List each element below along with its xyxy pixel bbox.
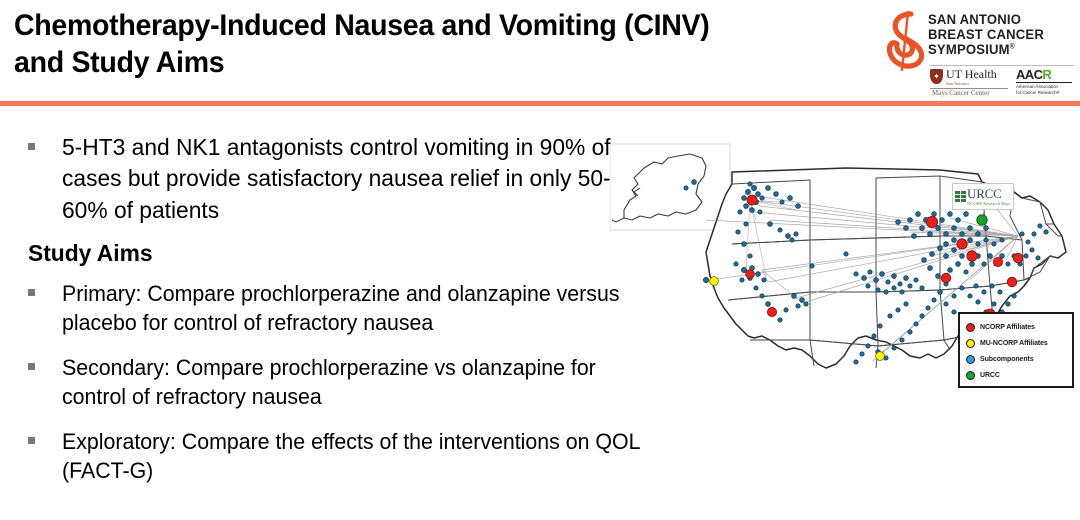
aacr-sub-line-2: for Cancer Research® (1016, 90, 1074, 95)
urcc-subtitle: NCORP Research Base (967, 200, 1010, 207)
urcc-text-block: URCC NCORP Research Base (967, 187, 1010, 207)
logo-line-1: SAN ANTONIO (928, 12, 1070, 27)
logo-line-3-text: SYMPOSIUM (928, 42, 1010, 57)
aacr-wordmark-green: R (1042, 67, 1051, 82)
legend-item-mu-ncorp: MU-NCORP Affiliates (966, 335, 1068, 351)
aim-text-secondary: Secondary: Compare prochlorperazine vs o… (62, 353, 650, 411)
page-title: Chemotherapy-Induced Nausea and Vomiting… (14, 8, 736, 81)
ut-health-name: UT Health (946, 68, 1010, 81)
ut-health-logo: ✦ UT Health San Antonio Mays Cancer Cent… (930, 68, 1010, 98)
legend-item-ncorp: NCORP Affiliates (966, 319, 1068, 335)
ut-shield-star-icon: ✦ (930, 69, 943, 84)
square-bullet-icon (28, 289, 35, 296)
ut-health-location: San Antonio (946, 81, 1010, 87)
urcc-grid-icon (955, 191, 966, 202)
sabcs-ribbon-mark-icon (884, 10, 926, 72)
logo-separator-rule (930, 65, 1074, 66)
legend-label-ncorp: NCORP Affiliates (980, 324, 1035, 331)
sabcs-wordmark: SAN ANTONIO BREAST CANCER SYMPOSIUM® (928, 12, 1074, 57)
list-item: Exploratory: Compare the effects of the … (28, 427, 668, 485)
slide-canvas: Chemotherapy-Induced Nausea and Vomiting… (0, 0, 1080, 520)
square-bullet-icon (28, 437, 35, 444)
ut-health-center: Mays Cancer Center (932, 89, 1010, 98)
list-item: Primary: Compare prochlorperazine and ol… (28, 279, 668, 337)
registered-mark: ® (1010, 44, 1015, 51)
legend-dot-yellow-icon (966, 339, 975, 348)
grid-cell (955, 191, 960, 194)
aacr-wordmark-black: AAC (1016, 67, 1042, 82)
map-legend: NCORP Affiliates MU-NCORP Affiliates Sub… (958, 312, 1074, 388)
aacr-rule (1016, 82, 1072, 83)
grid-cell (961, 191, 966, 194)
grid-cell (955, 195, 960, 198)
study-aims-list: Primary: Compare prochlorperazine and ol… (28, 279, 668, 485)
legend-label-urcc: URCC (980, 372, 1000, 379)
title-block: Chemotherapy-Induced Nausea and Vomiting… (14, 8, 774, 81)
slide-body: 5-HT3 and NK1 antagonists control vomiti… (28, 132, 668, 501)
logo-partner-row: ✦ UT Health San Antonio Mays Cancer Cent… (930, 68, 1076, 102)
aacr-logo: AACR American Association for Cancer Res… (1016, 68, 1074, 96)
shield-star-glyph: ✦ (933, 73, 940, 81)
legend-item-urcc: URCC (966, 367, 1068, 383)
square-bullet-icon (28, 143, 35, 150)
logo-line-2: BREAST CANCER (928, 27, 1070, 42)
grid-cell (955, 199, 960, 202)
aacr-sub-line-1: American Association (1016, 84, 1074, 89)
legend-dot-blue-icon (966, 355, 975, 364)
study-aims-heading: Study Aims (28, 240, 649, 267)
aim-text-primary: Primary: Compare prochlorperazine and ol… (62, 279, 650, 337)
sabcs-logo: SAN ANTONIO BREAST CANCER SYMPOSIUM® ✦ U… (884, 6, 1074, 98)
legend-item-subcomponents: Subcomponents (966, 351, 1068, 367)
logo-line-3: SYMPOSIUM® (928, 42, 1070, 57)
header-divider (0, 101, 1080, 106)
legend-dot-red-icon (966, 323, 975, 332)
list-item: Secondary: Compare prochlorperazine vs o… (28, 353, 668, 411)
legend-label-subcomponents: Subcomponents (980, 356, 1034, 363)
square-bullet-icon (28, 363, 35, 370)
aacr-wordmark: AACR (1016, 68, 1074, 81)
list-item: 5-HT3 and NK1 antagonists control vomiti… (28, 132, 668, 226)
grid-cell (961, 195, 966, 198)
urcc-name: URCC (967, 187, 1010, 200)
urcc-logo-badge: URCC NCORP Research Base (952, 183, 1014, 210)
aim-text-exploratory: Exploratory: Compare the effects of the … (62, 427, 650, 485)
legend-dot-green-icon (966, 371, 975, 380)
grid-cell (961, 199, 966, 202)
lead-bullet-text: 5-HT3 and NK1 antagonists control vomiti… (62, 132, 644, 226)
legend-label-mu-ncorp: MU-NCORP Affiliates (980, 340, 1048, 347)
us-ncorp-network-map: URCC NCORP Research Base NCORP Affiliate… (610, 140, 1080, 410)
